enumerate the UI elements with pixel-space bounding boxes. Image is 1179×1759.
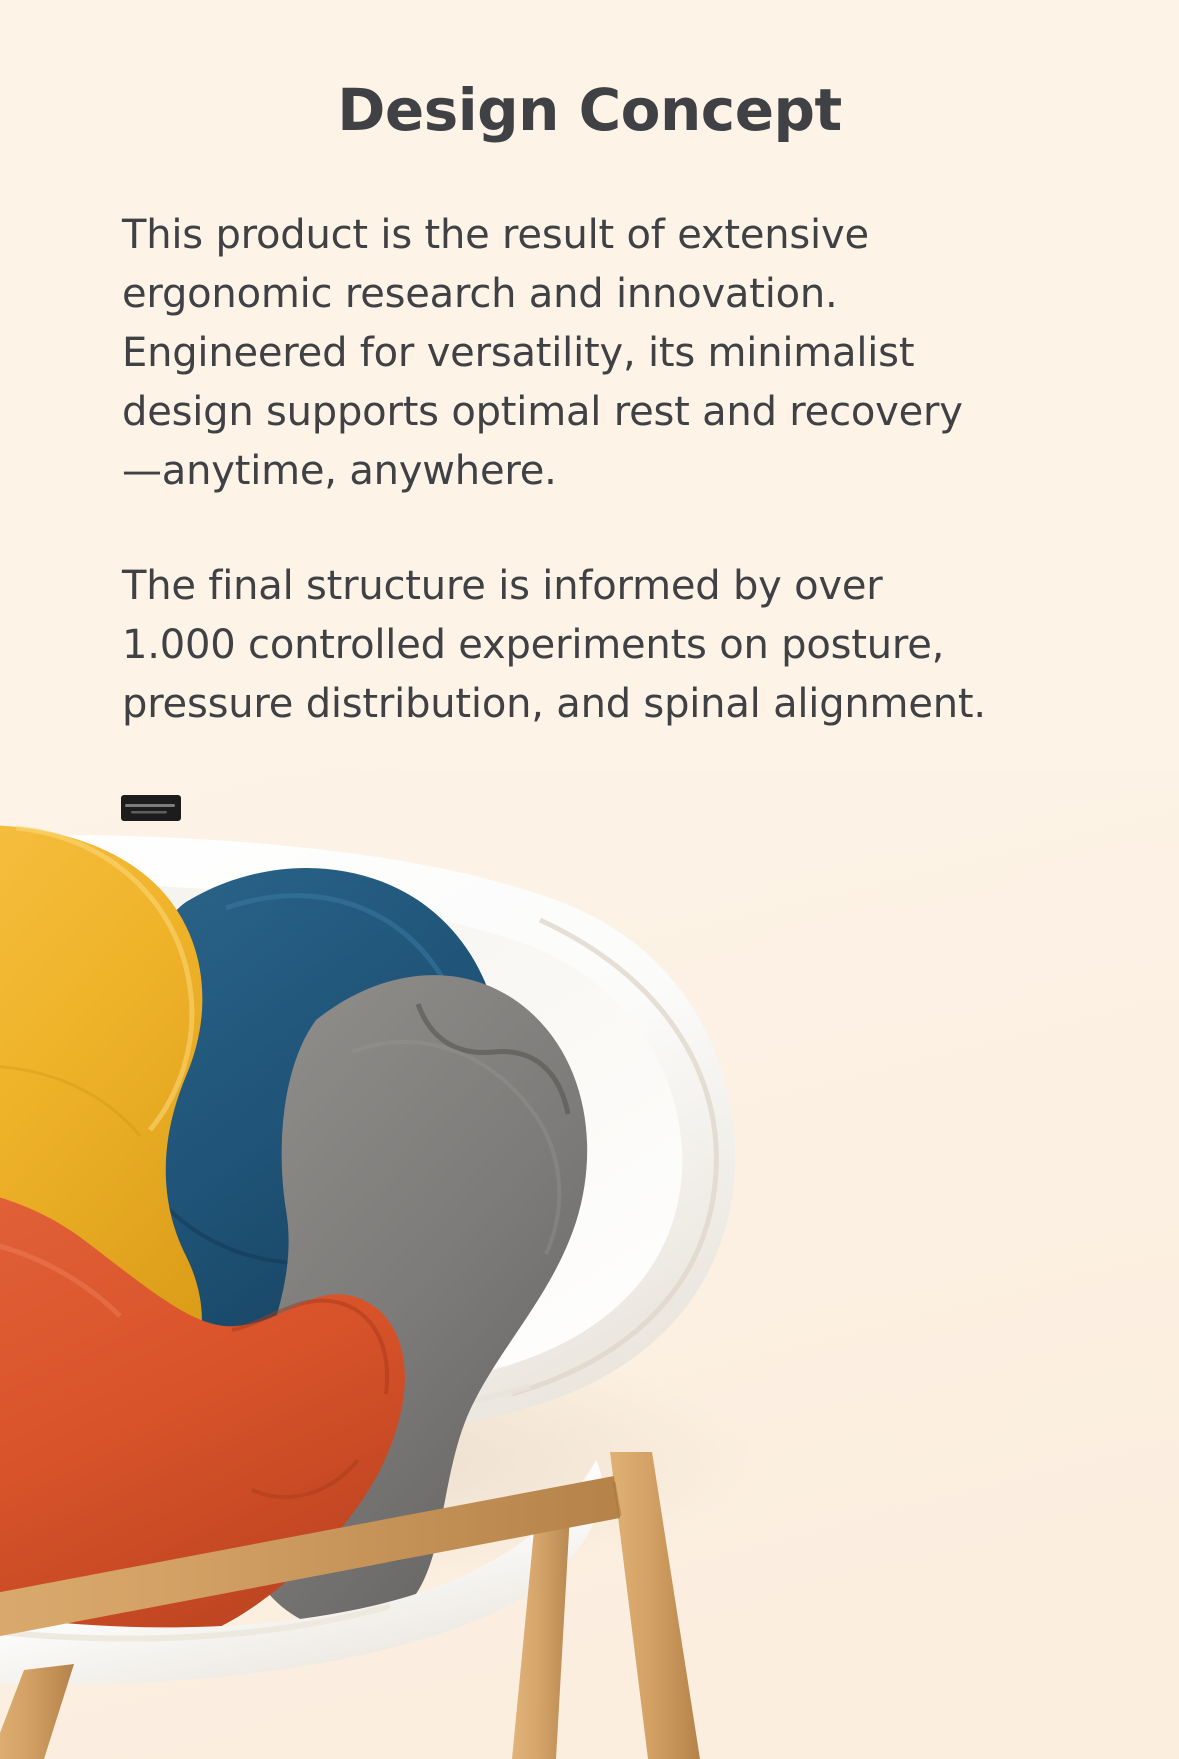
paragraph-1: This product is the result of extensive … (122, 206, 992, 501)
product-photo-illustration (0, 770, 1179, 1759)
paragraph-2: The final structure is informed by over … (122, 557, 992, 734)
body-copy: This product is the result of extensive … (122, 206, 992, 734)
brand-label-tag (121, 795, 181, 821)
design-concept-section: Design Concept This product is the resul… (0, 0, 1179, 1759)
product-photo (0, 770, 1179, 1759)
page-title: Design Concept (0, 76, 1179, 144)
